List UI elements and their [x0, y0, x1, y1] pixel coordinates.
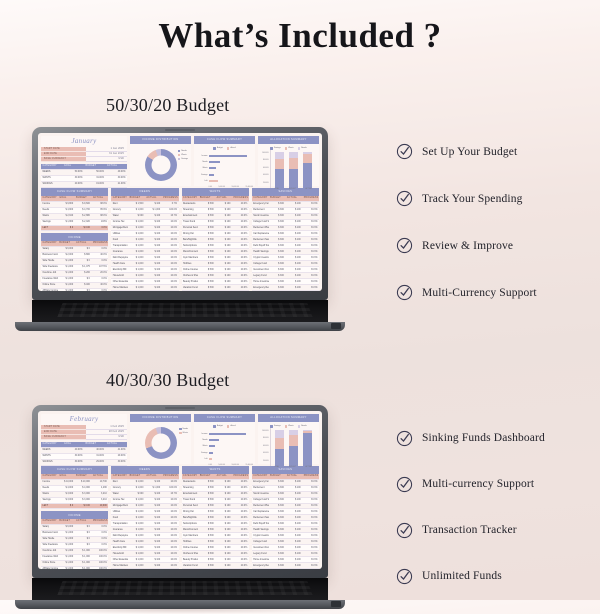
cash-flow-chart-2: CASH FLOW SUMMARY Budget Actual Income N… [194, 414, 255, 464]
setup-values-2: 1 Feb 2025 28 Feb 2025 USD [86, 425, 127, 440]
axis-tick: Wants [196, 445, 208, 447]
axis-tick: Needs [196, 161, 208, 163]
dashboard-top-row-1: January START DATE END DATE BASE CURRENC… [41, 136, 319, 186]
savings-column-1: SAVINGS Category Budget Actual Progress … [252, 188, 319, 288]
table-title: INCOME [41, 511, 108, 519]
table-title: WANTS [182, 466, 249, 474]
axis-tick: 100.00% [260, 152, 269, 154]
axis-tick: 15,000.00 [245, 186, 253, 188]
setup-label: BASE CURRENCY [41, 157, 86, 162]
summary-table-2: CATEGORY GOAL BUDGET ACTUAL NEEDS 40.00%… [41, 442, 127, 466]
axis-tick: 0.00 [209, 186, 212, 188]
feature-label: Multi-Currency Support [422, 287, 537, 299]
setup-value-currency[interactable]: USD [86, 157, 127, 162]
legend-label: Wants [183, 432, 188, 434]
wants-table-2: Category Budget Actual Progress Restaura… [182, 474, 249, 569]
table-row: SAVINGS 30.00% 29.00% 30.00% [41, 459, 127, 465]
feature-label: Track Your Spending [422, 193, 523, 205]
feature-item: Transaction Tracker [396, 507, 596, 553]
income-table-panel-1: INCOME Category Budget Actual Progress S… [41, 233, 108, 291]
cashflow-table-panel-1: CASH FLOW SUMMARY Category Goal Budget A… [41, 188, 108, 231]
axis-tick: Needs [196, 439, 208, 441]
legend-label: Wants [181, 154, 186, 156]
table-title: CASH FLOW SUMMARY [41, 466, 108, 474]
dashboard-setup-panel-2: February START DATE END DATE BASE CURREN… [41, 414, 127, 464]
wants-table-panel-2: WANTS Category Budget Actual Progress Re… [182, 466, 249, 569]
axis-tick: 80.00% [260, 437, 269, 439]
setup-labels-2: START DATE END DATE BASE CURRENCY [41, 425, 86, 440]
savings-table-panel-2: SAVINGS Category Budget Actual Progress … [252, 466, 319, 569]
axis-tick: Income [196, 433, 208, 435]
month-header-panel-1: January START DATE END DATE BASE CURRENC… [41, 136, 127, 162]
needs-column-1: NEEDS Category Budget Actual Progress Re… [111, 188, 178, 288]
donut-chart [145, 149, 177, 181]
spreadsheet-dashboard-2: February START DATE END DATE BASE CURREN… [38, 411, 322, 569]
axis-tick: 15,000.00 [245, 464, 253, 466]
cashflow-table-1: Category Goal Budget Actual Income$ 9,80… [41, 196, 108, 232]
income-table-2: Category Budget Actual Progress Salary$ … [41, 519, 108, 569]
feature-item: Sinking Funds Dashboard [396, 415, 596, 461]
axis-tick: 10,000.00 [231, 464, 239, 466]
cashflow-income-column-1: CASH FLOW SUMMARY Category Goal Budget A… [41, 188, 108, 288]
feature-item: Track Your Spending [396, 175, 596, 222]
needs-table-1: Category Budget Actual Progress Rent$ 1,… [111, 196, 178, 291]
cash-flow-chart-1: CASH FLOW SUMMARY Budget Actual Income N… [194, 136, 255, 186]
cell: 30.00% [106, 459, 128, 465]
chart-body: Savings Wants Needs 100.00% 80.00% 60.00… [258, 422, 319, 464]
chart-title: INCOME DISTRIBUTION [130, 414, 191, 422]
section-heading-1: 50/30/20 Budget [106, 95, 230, 116]
axis-tick: 60.00% [260, 445, 269, 447]
axis-tick: Left [196, 180, 208, 182]
axis-tick: GOAL [275, 188, 280, 190]
wants-table-panel-1: WANTS Category Budget Actual Progress Re… [182, 188, 249, 291]
table-row-total: LEFT$ 0$ 0.0010,000 [41, 503, 108, 509]
check-circle-icon [396, 476, 413, 493]
check-circle-icon [396, 568, 413, 585]
cashflow-income-column-2: CASH FLOW SUMMARY Category Goal Budget A… [41, 466, 108, 566]
laptop-screen-1: January START DATE END DATE BASE CURRENC… [38, 133, 322, 291]
setup-rows-2: START DATE END DATE BASE CURRENCY 1 Feb … [41, 425, 127, 440]
axis-tick: BUDGET [289, 466, 296, 468]
savings-column-2: SAVINGS Category Budget Actual Progress … [252, 466, 319, 566]
cell: 30.00% [63, 459, 85, 465]
axis-tick: 10,000.00 [231, 186, 239, 188]
axis-tick: Savings [196, 174, 208, 176]
laptop-base-2 [15, 600, 345, 609]
table-title: NEEDS [111, 188, 178, 196]
feature-item: Multi-currency Support [396, 461, 596, 507]
check-circle-icon [396, 237, 413, 254]
laptop-mockup-1: January START DATE END DATE BASE CURRENC… [32, 127, 345, 336]
chart-body: Needs Wants [130, 422, 191, 464]
setup-label: BASE CURRENCY [41, 435, 86, 440]
chart-title: ALLOCATION SUMMARY [258, 136, 319, 144]
table-title: CASH FLOW SUMMARY [41, 188, 108, 196]
cell: 20.00% [63, 181, 85, 187]
stacked-bar-chart: 100.00% 80.00% 60.00% 40.00% 20.00% [260, 150, 317, 188]
axis-tick: 5,000.00 [218, 464, 225, 466]
dashboard-top-row-2: February START DATE END DATE BASE CURREN… [41, 414, 319, 464]
laptop-mockup-2: February START DATE END DATE BASE CURREN… [32, 405, 345, 614]
table-row-total: LEFT$ 0$ 0.000.0% [41, 225, 108, 231]
feature-item: Set Up Your Budget [396, 128, 596, 175]
chart-body: Needs Wants Savings [130, 144, 191, 186]
cell: SAVINGS [41, 459, 63, 465]
cashflow-table-panel-2: CASH FLOW SUMMARY Category Goal Budget A… [41, 466, 108, 509]
income-distribution-chart-2: INCOME DISTRIBUTION Needs Wants [130, 414, 191, 464]
needs-table-panel-2: NEEDS Category Budget Actual Progress Re… [111, 466, 178, 569]
axis-tick: 20.00% [260, 182, 269, 184]
wants-column-2: WANTS Category Budget Actual Progress Re… [182, 466, 249, 566]
legend-label: Needs [183, 428, 188, 430]
needs-table-panel-1: NEEDS Category Budget Actual Progress Re… [111, 188, 178, 291]
check-circle-icon [396, 430, 413, 447]
axis-tick: Wants [196, 167, 208, 169]
axis-tick: 20.00% [260, 460, 269, 462]
axis-tick: 40.00% [260, 452, 269, 454]
chart-body: Budget Actual Income Needs Wants Savings… [194, 422, 255, 464]
laptop-shadow-1 [15, 331, 345, 336]
axis-tick: ACTUAL [306, 188, 313, 190]
table-title: WANTS [182, 188, 249, 196]
donut-chart [145, 427, 177, 459]
chart-title: CASH FLOW SUMMARY [194, 414, 255, 422]
cell: 21.00% [106, 181, 128, 187]
chart-legend: Needs Wants Savings [178, 150, 188, 161]
setup-values-1: 1 Jan 2025 31 Jan 2025 USD [86, 147, 127, 162]
cell: 29.00% [84, 459, 106, 465]
dashboard-bottom-row-1: CASH FLOW SUMMARY Category Goal Budget A… [41, 188, 319, 288]
laptop-lid-2: February START DATE END DATE BASE CURREN… [32, 405, 328, 578]
setup-labels-1: START DATE END DATE BASE CURRENCY [41, 147, 86, 162]
horizontal-bar-chart: Income Needs Wants Savings Left [196, 428, 253, 466]
feature-label: Sinking Funds Dashboard [422, 432, 545, 444]
legend-label: Needs [181, 150, 186, 152]
income-distribution-chart-1: INCOME DISTRIBUTION Needs Wants Savings [130, 136, 191, 186]
feature-label: Multi-currency Support [422, 478, 534, 490]
feature-label: Set Up Your Budget [422, 146, 517, 158]
axis-tick: 0.00 [209, 464, 212, 466]
feature-list-1: Set Up Your Budget Track Your Spending R… [396, 128, 596, 316]
savings-table-2: Category Budget Actual Progress Emergenc… [252, 474, 319, 569]
laptop-lid-1: January START DATE END DATE BASE CURRENC… [32, 127, 328, 300]
setup-value-currency[interactable]: USD [86, 435, 127, 440]
allocation-chart-1: ALLOCATION SUMMARY Savings Wants Needs 1… [258, 136, 319, 186]
income-table-panel-2: INCOME Category Budget Actual Progress S… [41, 511, 108, 569]
laptop-keyboard-1 [32, 300, 328, 322]
feature-label: Transaction Tracker [422, 524, 517, 536]
laptop-keyboard-2 [32, 578, 328, 600]
savings-table-panel-1: SAVINGS Category Budget Actual Progress … [252, 188, 319, 291]
cashflow-table-2: Category Goal Budget Actual Income$ 10,0… [41, 474, 108, 510]
feature-label: Review & Improve [422, 240, 513, 252]
check-circle-icon [396, 143, 413, 160]
chart-title: INCOME DISTRIBUTION [130, 136, 191, 144]
laptop-screen-2: February START DATE END DATE BASE CURREN… [38, 411, 322, 569]
check-circle-icon [396, 190, 413, 207]
summary-table-1: CATEGORY GOAL BUDGET ACTUAL NEEDS 50.00%… [41, 164, 127, 188]
axis-tick: 5,000.00 [218, 186, 225, 188]
stacked-bar-chart: 100.00% 80.00% 60.00% 40.00% 20.00% [260, 428, 317, 466]
check-circle-icon [396, 284, 413, 301]
feature-list-2: Sinking Funds Dashboard Multi-currency S… [396, 415, 596, 599]
table-row: SAVINGS 20.00% 19.00% 21.00% [41, 181, 127, 187]
spreadsheet-dashboard-1: January START DATE END DATE BASE CURRENC… [38, 133, 322, 291]
feature-item: Unlimited Funds [396, 553, 596, 599]
chart-title: CASH FLOW SUMMARY [194, 136, 255, 144]
check-circle-icon [396, 522, 413, 539]
legend-label: Savings [181, 158, 188, 160]
axis-tick: BUDGET [289, 188, 296, 190]
chart-legend: Needs Wants [179, 428, 188, 435]
wants-column-1: WANTS Category Budget Actual Progress Re… [182, 188, 249, 288]
axis-tick: 60.00% [260, 167, 269, 169]
needs-table-2: Category Budget Actual Progress Rent$ 1,… [111, 474, 178, 569]
laptop-shadow-2 [15, 609, 345, 614]
chart-body: Budget Actual Income Needs Wants Savings… [194, 144, 255, 186]
month-label-2: February [41, 414, 127, 425]
axis-tick: 100.00% [260, 430, 269, 432]
feature-label: Unlimited Funds [422, 570, 502, 582]
axis-tick: Left [196, 458, 208, 460]
income-table-1: Category Budget Actual Progress Salary$ … [41, 241, 108, 291]
axis-tick: Savings [196, 452, 208, 454]
section-heading-2: 40/30/30 Budget [106, 370, 230, 391]
cell: SAVINGS [41, 181, 63, 187]
needs-column-2: NEEDS Category Budget Actual Progress Re… [111, 466, 178, 566]
axis-tick: ACTUAL [306, 466, 313, 468]
axis-tick: GOAL [275, 466, 280, 468]
table-title: INCOME [41, 233, 108, 241]
feature-item: Review & Improve [396, 222, 596, 269]
chart-body: Savings Wants Needs 100.00% 80.00% 60.00… [258, 144, 319, 186]
axis-tick: Income [196, 155, 208, 157]
table-title: NEEDS [111, 466, 178, 474]
month-header-panel-2: February START DATE END DATE BASE CURREN… [41, 414, 127, 440]
feature-item: Multi-Currency Support [396, 269, 596, 316]
wants-table-1: Category Budget Actual Progress Restaura… [182, 196, 249, 291]
cell: 19.00% [84, 181, 106, 187]
laptop-base-1 [15, 322, 345, 331]
horizontal-bar-chart: Income Needs Wants Savings Left [196, 150, 253, 188]
dashboard-setup-panel-1: January START DATE END DATE BASE CURRENC… [41, 136, 127, 186]
page-title: What’s Included ? [0, 16, 600, 56]
chart-title: ALLOCATION SUMMARY [258, 414, 319, 422]
setup-rows-1: START DATE END DATE BASE CURRENCY 1 Jan … [41, 147, 127, 162]
axis-tick: 40.00% [260, 174, 269, 176]
table-row: Affiliate Income$ 1,000$ 00.0% [41, 288, 108, 291]
table-row: Affiliate Income$ 1,000$ 1,000100.0% [41, 566, 108, 569]
allocation-chart-2: ALLOCATION SUMMARY Savings Wants Needs 1… [258, 414, 319, 464]
axis-tick: 80.00% [260, 159, 269, 161]
savings-table-1: Category Budget Actual Progress Emergenc… [252, 196, 319, 291]
month-label-1: January [41, 136, 127, 147]
dashboard-bottom-row-2: CASH FLOW SUMMARY Category Goal Budget A… [41, 466, 319, 566]
